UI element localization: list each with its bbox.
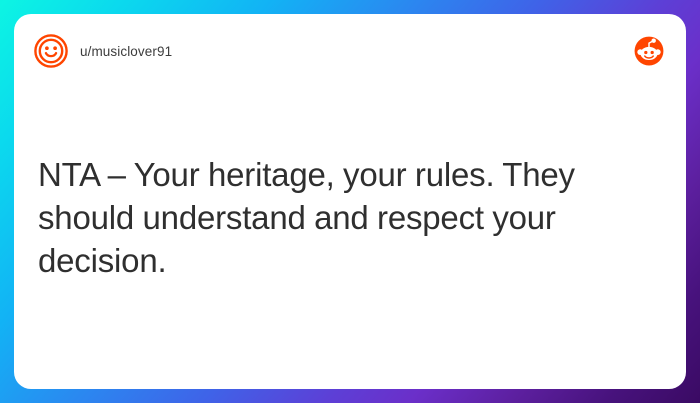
reddit-snoo-icon <box>634 36 664 66</box>
post-text: NTA – Your heritage, your rules. They sh… <box>38 154 646 283</box>
card-body: NTA – Your heritage, your rules. They sh… <box>38 154 646 283</box>
avatar <box>34 34 68 68</box>
brand-logo <box>634 36 664 66</box>
card-header: u/musiclover91 <box>14 14 686 88</box>
username-label: u/musiclover91 <box>80 44 172 59</box>
reddit-comment-card: u/musiclover91 <box>14 14 686 389</box>
smiley-face-icon <box>34 34 68 68</box>
screenshot-stage: u/musiclover91 <box>0 0 700 403</box>
